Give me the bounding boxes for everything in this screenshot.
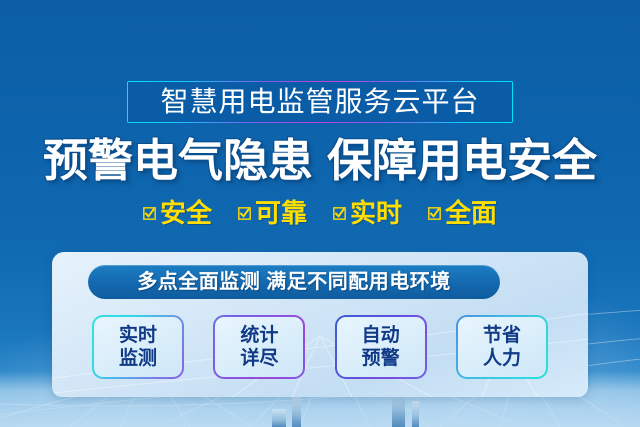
- platform-title-box-inner: 智慧用电监管服务云平台: [128, 82, 512, 122]
- feature-card-inner: 节省 人力: [458, 317, 546, 377]
- feature-card-inner: 自动 预警: [337, 317, 425, 377]
- feature-card-line-2: 详尽: [240, 348, 278, 370]
- check-item-3: 全面: [428, 200, 497, 226]
- feature-card-detailed-statistics[interactable]: 统计 详尽: [213, 315, 305, 379]
- feature-check-row: 安全 可靠 实时 全面: [0, 200, 640, 226]
- checkbox-checked-icon: [428, 207, 441, 220]
- feature-card-inner: 统计 详尽: [215, 317, 303, 377]
- headline-part-2: 保障用电安全: [327, 135, 597, 186]
- feature-card-realtime-monitoring[interactable]: 实时 监测: [92, 315, 184, 379]
- platform-title-text: 智慧用电监管服务云平台: [160, 88, 479, 116]
- feature-card-line-2: 监测: [119, 348, 157, 370]
- feature-card-line-1: 节省: [483, 325, 521, 347]
- check-label-1: 可靠: [255, 200, 307, 226]
- checkbox-checked-icon: [333, 207, 346, 220]
- feature-card-line-1: 自动: [362, 325, 400, 347]
- check-label-3: 全面: [445, 200, 497, 226]
- feature-card-line-1: 实时: [119, 325, 157, 347]
- check-item-1: 可靠: [238, 200, 307, 226]
- feature-card-line-2: 人力: [483, 348, 521, 370]
- feature-card-line-2: 预警: [362, 348, 400, 370]
- check-item-2: 实时: [333, 200, 402, 226]
- feature-card-automatic-alarm[interactable]: 自动 预警: [335, 315, 427, 379]
- checkbox-checked-icon: [238, 207, 251, 220]
- headline-part-1: 预警电气隐患: [43, 135, 313, 186]
- check-item-0: 安全: [143, 200, 212, 226]
- feature-card-inner: 实时 监测: [94, 317, 182, 377]
- headline: 预警电气隐患保障用电安全: [0, 137, 640, 185]
- subheading-text: 多点全面监测 满足不同配用电环境: [137, 272, 451, 292]
- tower-decoration: [292, 393, 301, 427]
- tower-decoration: [272, 409, 286, 427]
- tower-decoration: [412, 401, 419, 427]
- check-label-0: 安全: [160, 200, 212, 226]
- check-label-2: 实时: [350, 200, 402, 226]
- feature-card-save-manpower[interactable]: 节省 人力: [456, 315, 548, 379]
- checkbox-checked-icon: [143, 207, 156, 220]
- poster-canvas: 智慧用电监管服务云平台 预警电气隐患保障用电安全 安全 可靠 实: [0, 0, 640, 427]
- subheading-pill: 多点全面监测 满足不同配用电环境: [88, 265, 500, 299]
- feature-card-line-1: 统计: [240, 325, 278, 347]
- platform-title-box: 智慧用电监管服务云平台: [127, 81, 513, 123]
- feature-card-list: 实时 监测 统计 详尽 自动 预警 节省 人力: [92, 315, 548, 379]
